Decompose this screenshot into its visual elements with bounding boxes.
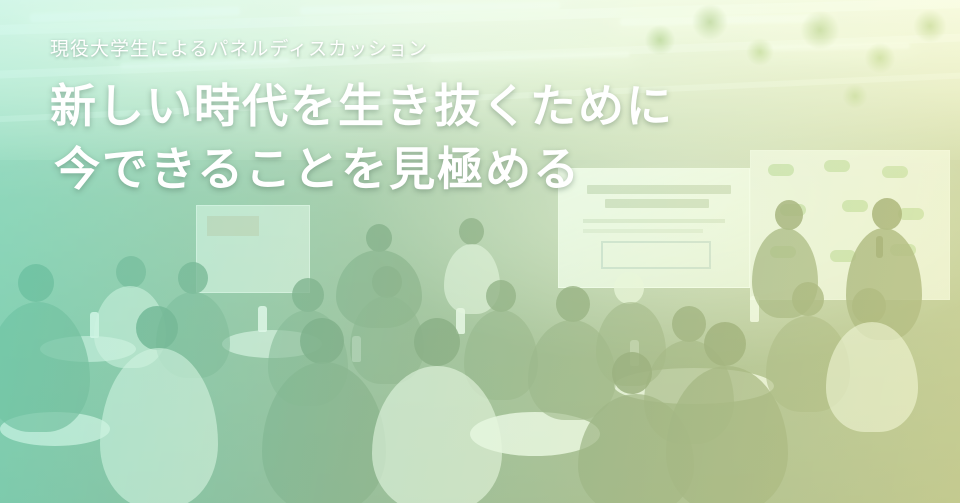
event-banner: 現役大学生によるパネルディスカッション 新しい時代を生き抜くために 今できること…	[0, 0, 960, 503]
headline-line-1: 新しい時代を生き抜くために	[50, 79, 674, 133]
banner-eyebrow: 現役大学生によるパネルディスカッション	[50, 34, 674, 61]
banner-headline: 新しい時代を生き抜くために 今できることを見極める	[50, 75, 674, 202]
banner-text-block: 現役大学生によるパネルディスカッション 新しい時代を生き抜くために 今できること…	[50, 34, 674, 202]
headline-line-2: 今できることを見極める	[50, 138, 674, 201]
